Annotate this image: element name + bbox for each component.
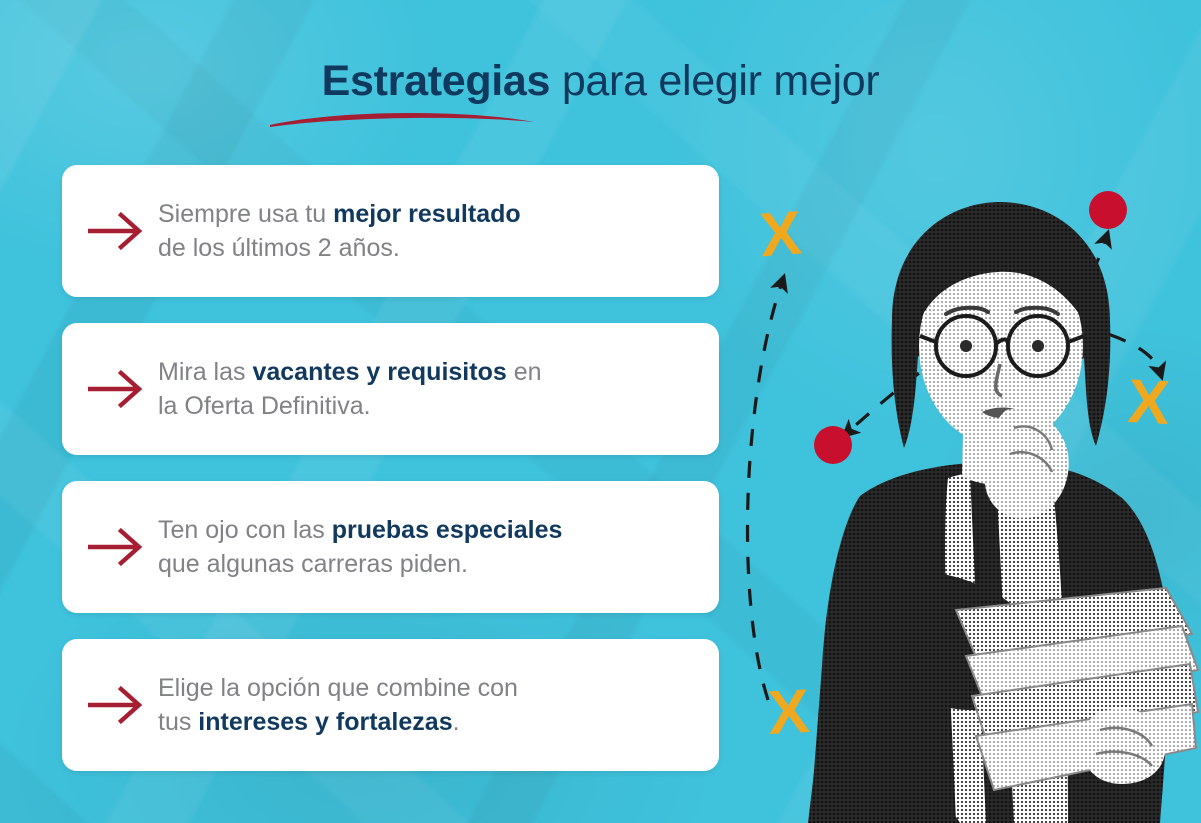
tip-card[interactable]: Elige la opción que combine con tus inte… bbox=[62, 639, 719, 771]
arrow-right-icon bbox=[62, 686, 158, 724]
x-mark-right: X bbox=[1126, 371, 1171, 435]
tip-text-pre-2: la Oferta Definitiva. bbox=[158, 392, 371, 420]
title-underline-swoosh bbox=[268, 104, 536, 130]
dot-middle bbox=[814, 426, 852, 464]
arrow-right-icon bbox=[62, 212, 158, 250]
tip-card-text: Siempre usa tu mejor resultado de los úl… bbox=[158, 197, 719, 266]
page-title-rest: para elegir mejor bbox=[550, 57, 879, 105]
tip-text-bold: vacantes y requisitos bbox=[252, 358, 506, 386]
tip-card-text: Ten ojo con las pruebas especiales que a… bbox=[158, 513, 719, 582]
tip-text-bold: mejor resultado bbox=[333, 200, 521, 228]
tip-card[interactable]: Siempre usa tu mejor resultado de los úl… bbox=[62, 165, 719, 297]
tip-text-pre-2: tus bbox=[158, 708, 198, 736]
tip-text-pre: Siempre usa tu bbox=[158, 200, 333, 228]
tip-text-bold-2: intereses y fortalezas bbox=[198, 708, 452, 736]
arrow-right-icon bbox=[62, 370, 158, 408]
x-mark-bottom-left: X bbox=[766, 681, 811, 745]
tip-text-pre: Mira las bbox=[158, 358, 252, 386]
tips-list: Siempre usa tu mejor resultado de los úl… bbox=[62, 165, 719, 771]
tip-text-pre-2: que algunas carreras piden. bbox=[158, 550, 468, 578]
x-mark-top-left: X bbox=[758, 203, 804, 268]
tip-card-text: Mira las vacantes y requisitos en la Ofe… bbox=[158, 355, 719, 424]
tip-text-bold: pruebas especiales bbox=[332, 516, 563, 544]
tip-card[interactable]: Mira las vacantes y requisitos en la Ofe… bbox=[62, 323, 719, 455]
dot-top-right bbox=[1089, 191, 1127, 229]
infographic-canvas: Estrategias para elegir mejor bbox=[0, 0, 1201, 823]
page-title-bold: Estrategias bbox=[322, 57, 551, 105]
student-photo bbox=[800, 196, 1201, 823]
tip-card[interactable]: Ten ojo con las pruebas especiales que a… bbox=[62, 481, 719, 613]
tip-text-post: en bbox=[507, 358, 542, 386]
tip-text-pre: Ten ojo con las bbox=[158, 516, 332, 544]
tip-card-text: Elige la opción que combine con tus inte… bbox=[158, 671, 719, 740]
tip-text-pre: Elige la opción que combine con bbox=[158, 674, 518, 702]
page-title: Estrategias para elegir mejor bbox=[0, 58, 1201, 104]
tip-text-post-2: . bbox=[453, 708, 460, 736]
arrow-right-icon bbox=[62, 528, 158, 566]
tip-text-pre-2: de los últimos 2 años. bbox=[158, 234, 400, 262]
